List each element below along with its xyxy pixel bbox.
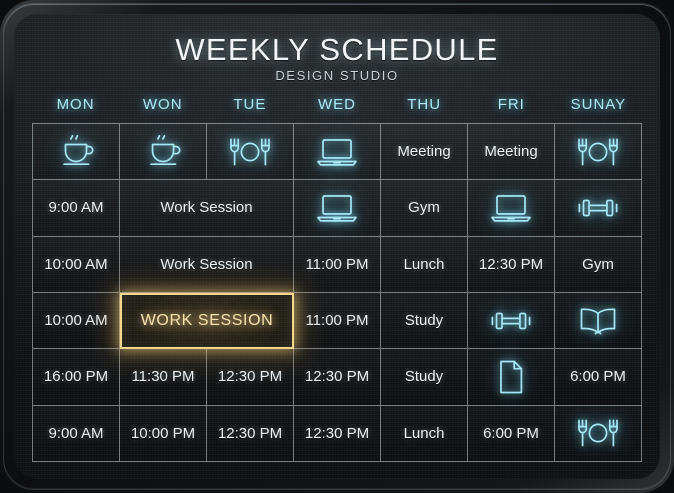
book-icon [576,305,620,337]
schedule-cell-label: 12:30 PM [305,368,369,385]
schedule-cell-label: Lunch [404,256,445,273]
schedule-cell-highlighted[interactable]: WORK SESSION [120,293,294,349]
schedule-cell[interactable]: 9:00 AM [33,406,120,462]
laptop-icon [489,192,533,224]
schedule-cell-coffee-icon[interactable] [120,124,207,180]
schedule-cell-document-icon[interactable] [468,349,555,405]
schedule-grid: MeetingMeeting9:00 AMWork SessionGym10:0… [32,123,642,462]
schedule-cell-label: 11:00 PM [305,256,368,273]
schedule-screen: WEEKLY SCHEDULE DESIGN STUDIO MONWONTUEW… [14,14,660,479]
schedule-cell-label: 10:00 AM [44,256,107,273]
day-header-thu: THU [381,90,468,120]
schedule-cell-book-icon[interactable] [555,293,642,349]
schedule-cell-label: Meeting [484,143,537,160]
schedule-cell-label: Gym [408,199,440,216]
schedule-cell-coffee-icon[interactable] [33,124,120,180]
day-header-won: WON [119,90,206,120]
day-header-tue: TUE [206,90,293,120]
schedule-cell[interactable]: 12:30 PM [294,349,381,405]
schedule-cell[interactable]: Work Session [120,237,294,293]
schedule-cell-label: 6:00 PM [483,425,539,442]
schedule-cell[interactable]: Lunch [381,406,468,462]
schedule-cell-laptop-icon[interactable] [294,124,381,180]
schedule-cell-label: 11:00 PM [305,312,368,329]
schedule-cell[interactable]: 16:00 PM [33,349,120,405]
schedule-cell-label: 6:00 PM [570,368,626,385]
day-header-sunay: SUNAY [555,90,642,120]
schedule-cell-label: Lunch [404,425,445,442]
coffee-icon [56,135,96,169]
laptop-icon [315,192,359,224]
dumbbell-icon [488,308,534,334]
cutlery-icon [227,136,273,168]
schedule-cell[interactable]: 10:00 AM [33,293,120,349]
schedule-cell[interactable]: 10:00 PM [120,406,207,462]
schedule-cell-dumbbell-icon[interactable] [555,180,642,236]
schedule-cell[interactable]: 11:30 PM [120,349,207,405]
schedule-cell[interactable]: Gym [555,237,642,293]
schedule-cell[interactable]: 11:00 PM [294,237,381,293]
schedule-cell[interactable]: 6:00 PM [468,406,555,462]
schedule-cell[interactable]: Gym [381,180,468,236]
coffee-icon [143,135,183,169]
page-title: WEEKLY SCHEDULE [14,32,660,68]
schedule-cell[interactable]: Study [381,293,468,349]
schedule-cell[interactable]: 10:00 AM [33,237,120,293]
schedule-cell-label: Meeting [397,143,450,160]
schedule-cell-cutlery-icon[interactable] [207,124,294,180]
schedule-cell-label: Work Session [160,256,252,273]
schedule-cell[interactable]: 9:00 AM [33,180,120,236]
schedule-cell-cutlery-icon[interactable] [555,124,642,180]
schedule-cell-laptop-icon[interactable] [468,180,555,236]
schedule-cell-label: 16:00 PM [44,368,108,385]
schedule-cell-label: Work Session [160,199,252,216]
schedule-cell[interactable]: 12:30 PM [294,406,381,462]
schedule-cell[interactable]: 12:30 PM [207,406,294,462]
schedule-cell-label: 11:30 PM [131,368,194,385]
schedule-cell[interactable]: Study [381,349,468,405]
page-subtitle: DESIGN STUDIO [14,68,660,83]
schedule-cell-label: Gym [582,256,614,273]
schedule-cell[interactable]: Work Session [120,180,294,236]
schedule-cell-label: 12:30 PM [479,256,543,273]
schedule-cell-label: Study [405,312,443,329]
device-bezel: WEEKLY SCHEDULE DESIGN STUDIO MONWONTUEW… [0,0,674,493]
day-header-wed: WED [293,90,380,120]
laptop-icon [315,136,359,168]
schedule-cell[interactable]: Meeting [381,124,468,180]
schedule-cell-label: WORK SESSION [141,312,274,330]
day-header-fri: FRI [468,90,555,120]
schedule-cell-label: Study [405,368,443,385]
day-header-row: MONWONTUEWEDTHUFRISUNAY [32,90,642,120]
schedule-cell[interactable]: 12:30 PM [468,237,555,293]
schedule-cell-laptop-icon[interactable] [294,180,381,236]
schedule-cell[interactable]: 12:30 PM [207,349,294,405]
dumbbell-icon [575,195,621,221]
schedule-cell-label: 9:00 AM [48,199,103,216]
document-icon [496,359,526,395]
schedule-cell[interactable]: Lunch [381,237,468,293]
schedule-cell-label: 10:00 PM [131,425,195,442]
schedule-cell[interactable]: 6:00 PM [555,349,642,405]
schedule-cell[interactable]: Meeting [468,124,555,180]
schedule-cell-label: 9:00 AM [48,425,103,442]
cutlery-icon [575,417,621,449]
schedule-cell-label: 12:30 PM [218,368,282,385]
schedule-cell-label: 10:00 AM [44,312,107,329]
schedule-cell-label: 12:30 PM [218,425,282,442]
schedule-cell-label: 12:30 PM [305,425,369,442]
cutlery-icon [575,136,621,168]
schedule-cell-dumbbell-icon[interactable] [468,293,555,349]
schedule-cell[interactable]: 11:00 PM [294,293,381,349]
day-header-mon: MON [32,90,119,120]
schedule-cell-cutlery-icon[interactable] [555,406,642,462]
